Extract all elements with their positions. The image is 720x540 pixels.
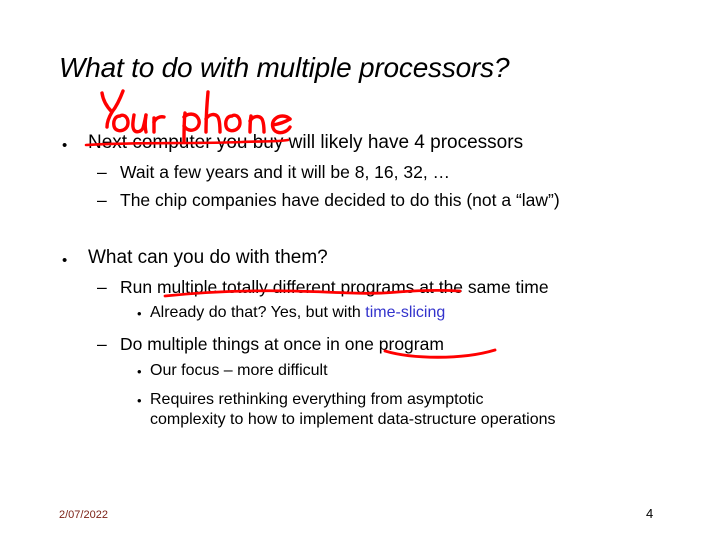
bullet-marker-level2: – bbox=[97, 334, 107, 355]
bullet-marker-level3: • bbox=[137, 306, 142, 321]
bullet-text-do-multiple-things: Do multiple things at once in one progra… bbox=[120, 334, 444, 355]
bullet-text-next-computer: Next computer you buy will likely have 4… bbox=[88, 132, 523, 154]
bullet-marker-level2: – bbox=[97, 277, 107, 298]
bullet-text-requires-rethinking-line1: Requires rethinking everything from asym… bbox=[150, 391, 483, 409]
footer-date: 2/07/2022 bbox=[59, 509, 108, 521]
struck-text: Next computer you buy bbox=[88, 132, 283, 153]
bullet-text-remainder: will likely have 4 processors bbox=[283, 132, 523, 153]
bullet-text-wait-a-few-years: Wait a few years and it will be 8, 16, 3… bbox=[120, 162, 450, 183]
bullet-text-what-can-you-do: What can you do with them? bbox=[88, 247, 328, 269]
bullet-text-prefix: Already do that? Yes, but with bbox=[150, 304, 365, 321]
time-slicing-term: time-slicing bbox=[365, 304, 445, 321]
bullet-text-chip-companies: The chip companies have decided to do th… bbox=[120, 190, 560, 211]
bullet-marker-level1: • bbox=[62, 252, 67, 269]
presentation-slide: What to do with multiple processors? • N… bbox=[0, 0, 720, 540]
footer-page-number: 4 bbox=[646, 506, 653, 521]
bullet-text-requires-rethinking-line2: complexity to how to implement data-stru… bbox=[150, 411, 556, 429]
bullet-marker-level3: • bbox=[137, 393, 142, 408]
bullet-marker-level2: – bbox=[97, 162, 107, 183]
bullet-marker-level2: – bbox=[97, 190, 107, 211]
slide-body: • Next computer you buy will likely have… bbox=[0, 0, 720, 540]
bullet-marker-level3: • bbox=[137, 364, 142, 379]
bullet-marker-level1: • bbox=[62, 137, 67, 154]
bullet-text-run-multiple-programs: Run multiple totally different programs … bbox=[120, 277, 549, 298]
bullet-text-our-focus: Our focus – more difficult bbox=[150, 362, 328, 380]
bullet-text-already-do-that: Already do that? Yes, but with time-slic… bbox=[150, 304, 445, 322]
